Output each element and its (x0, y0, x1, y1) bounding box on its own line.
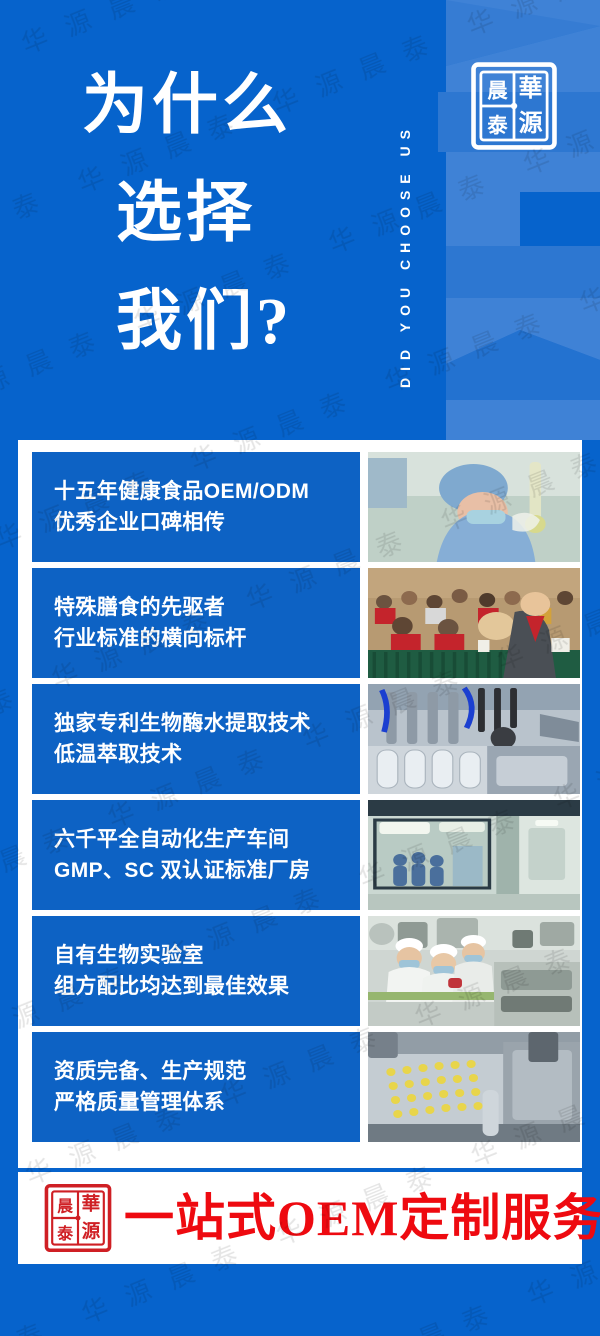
feature-line-2: GMP、SC 双认证标准厂房 (54, 855, 360, 886)
company-seal-logo: 華 源 晨 泰 (468, 57, 560, 155)
headline-line-1: 为什么 (82, 52, 382, 160)
headline-line-3: 我们? (82, 268, 382, 376)
header: 为什么 选择 我们? DID YOU CHOOSE US 華 源 晨 泰 (0, 0, 600, 440)
photo-lab-staff-icon (368, 916, 580, 1026)
feature-line-1: 十五年健康食品OEM/ODM (54, 476, 360, 507)
feature-card-text: 独家专利生物酶水提取技术 低温萃取技术 (32, 684, 360, 794)
page-title: 为什么 选择 我们? (82, 52, 382, 376)
svg-text:晨: 晨 (57, 1198, 73, 1216)
svg-text:源: 源 (82, 1220, 101, 1242)
feature-card[interactable]: 自有生物实验室 组方配比均达到最佳效果 (32, 916, 580, 1026)
feature-photo-technician-inspecting-vial (368, 452, 580, 562)
poster-root: 为什么 选择 我们? DID YOU CHOOSE US 華 源 晨 泰 (0, 0, 600, 1336)
banner-headline: 一站式OEM定制服务 (124, 1190, 600, 1246)
feature-line-1: 自有生物实验室 (54, 940, 360, 971)
headline-line-2: 选择 (82, 160, 382, 268)
svg-text:華: 華 (82, 1193, 101, 1215)
photo-conference-icon (368, 568, 580, 678)
photo-filling-machine-icon (368, 684, 580, 794)
feature-card[interactable]: 特殊膳食的先驱者 行业标准的横向标杆 (32, 568, 580, 678)
feature-card-list: 十五年健康食品OEM/ODM 优秀企业口碑相传 (32, 452, 580, 1156)
feature-line-1: 资质完备、生产规范 (54, 1056, 360, 1087)
feature-card-text: 十五年健康食品OEM/ODM 优秀企业口碑相传 (32, 452, 360, 562)
photo-blister-packing-icon (368, 1032, 580, 1142)
feature-photo-cleanroom-corridor (368, 800, 580, 910)
svg-text:泰: 泰 (56, 1224, 73, 1243)
svg-text:源: 源 (519, 110, 543, 137)
feature-line-2: 低温萃取技术 (54, 739, 360, 770)
feature-card[interactable]: 十五年健康食品OEM/ODM 优秀企业口碑相传 (32, 452, 580, 562)
feature-card[interactable]: 资质完备、生产规范 严格质量管理体系 (32, 1032, 580, 1142)
feature-line-1: 独家专利生物酶水提取技术 (54, 708, 360, 739)
svg-text:華: 華 (519, 75, 543, 102)
feature-photo-blister-packing (368, 1032, 580, 1142)
photo-cleanroom-icon (368, 800, 580, 910)
svg-text:晨: 晨 (487, 80, 508, 103)
photo-technician-icon (368, 452, 580, 562)
feature-photo-lab-staff (368, 916, 580, 1026)
feature-card-text: 特殊膳食的先驱者 行业标准的横向标杆 (32, 568, 360, 678)
seal-icon: 華 源 晨 泰 (42, 1180, 114, 1256)
feature-photo-conference-audience (368, 568, 580, 678)
feature-photo-filling-machine (368, 684, 580, 794)
company-seal-logo-red: 華 源 晨 泰 (42, 1180, 114, 1256)
feature-card[interactable]: 独家专利生物酶水提取技术 低温萃取技术 (32, 684, 580, 794)
feature-line-2: 行业标准的横向标杆 (54, 623, 360, 654)
feature-card-text: 六千平全自动化生产车间 GMP、SC 双认证标准厂房 (32, 800, 360, 910)
seal-icon: 華 源 晨 泰 (468, 57, 560, 155)
feature-card[interactable]: 六千平全自动化生产车间 GMP、SC 双认证标准厂房 (32, 800, 580, 910)
feature-card-text: 资质完备、生产规范 严格质量管理体系 (32, 1032, 360, 1142)
feature-line-2: 优秀企业口碑相传 (54, 507, 360, 538)
vertical-subtitle: DID YOU CHOOSE US (397, 28, 423, 388)
svg-text:泰: 泰 (486, 114, 508, 138)
feature-line-1: 特殊膳食的先驱者 (54, 592, 360, 623)
feature-line-2: 严格质量管理体系 (54, 1087, 360, 1118)
feature-line-2: 组方配比均达到最佳效果 (54, 971, 360, 1002)
feature-line-1: 六千平全自动化生产车间 (54, 824, 360, 855)
feature-card-text: 自有生物实验室 组方配比均达到最佳效果 (32, 916, 360, 1026)
